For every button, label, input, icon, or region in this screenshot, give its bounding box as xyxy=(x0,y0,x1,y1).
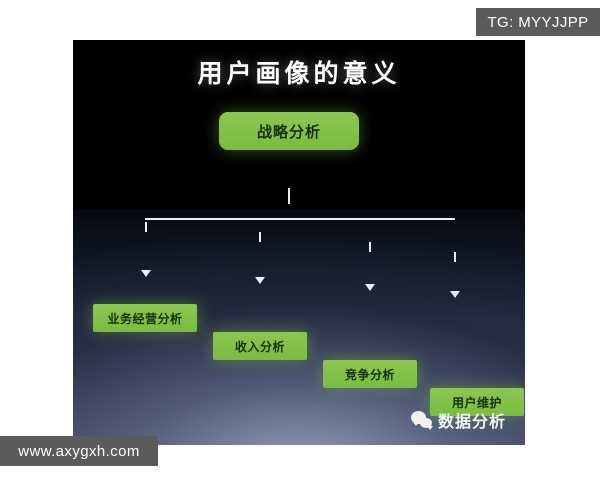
connector-trunk xyxy=(288,188,290,204)
brand-label: 数据分析 xyxy=(438,408,506,432)
wechat-icon xyxy=(411,411,433,430)
infographic-canvas: 用户画像的意义 战略分析 业务经营分析 收入分析 竞争分析 用户维护 完善产品运… xyxy=(73,40,525,445)
connector-tick-0 xyxy=(145,222,147,232)
node-competition-analysis[interactable]: 竞争分析 xyxy=(323,360,417,388)
node-business-operation-analysis[interactable]: 业务经营分析 xyxy=(93,304,197,332)
arrow-down-1 xyxy=(255,277,265,284)
arrow-down-0 xyxy=(141,270,151,277)
connector-tick-3 xyxy=(454,252,456,262)
node-strategy-analysis[interactable]: 战略分析 xyxy=(219,112,359,150)
page-title: 用户画像的意义 xyxy=(73,54,525,90)
arrow-down-3 xyxy=(450,291,460,298)
watermark-top-right: TG: MYYJJPP xyxy=(476,8,600,36)
watermark-bottom-left: www.axygxh.com xyxy=(0,436,158,466)
connector-tick-1 xyxy=(259,232,261,242)
node-revenue-analysis[interactable]: 收入分析 xyxy=(213,332,307,360)
connector-tick-2 xyxy=(369,242,371,252)
connector-bus xyxy=(145,218,455,220)
arrow-down-2 xyxy=(365,284,375,291)
brand-watermark: 数据分析 xyxy=(411,408,506,432)
